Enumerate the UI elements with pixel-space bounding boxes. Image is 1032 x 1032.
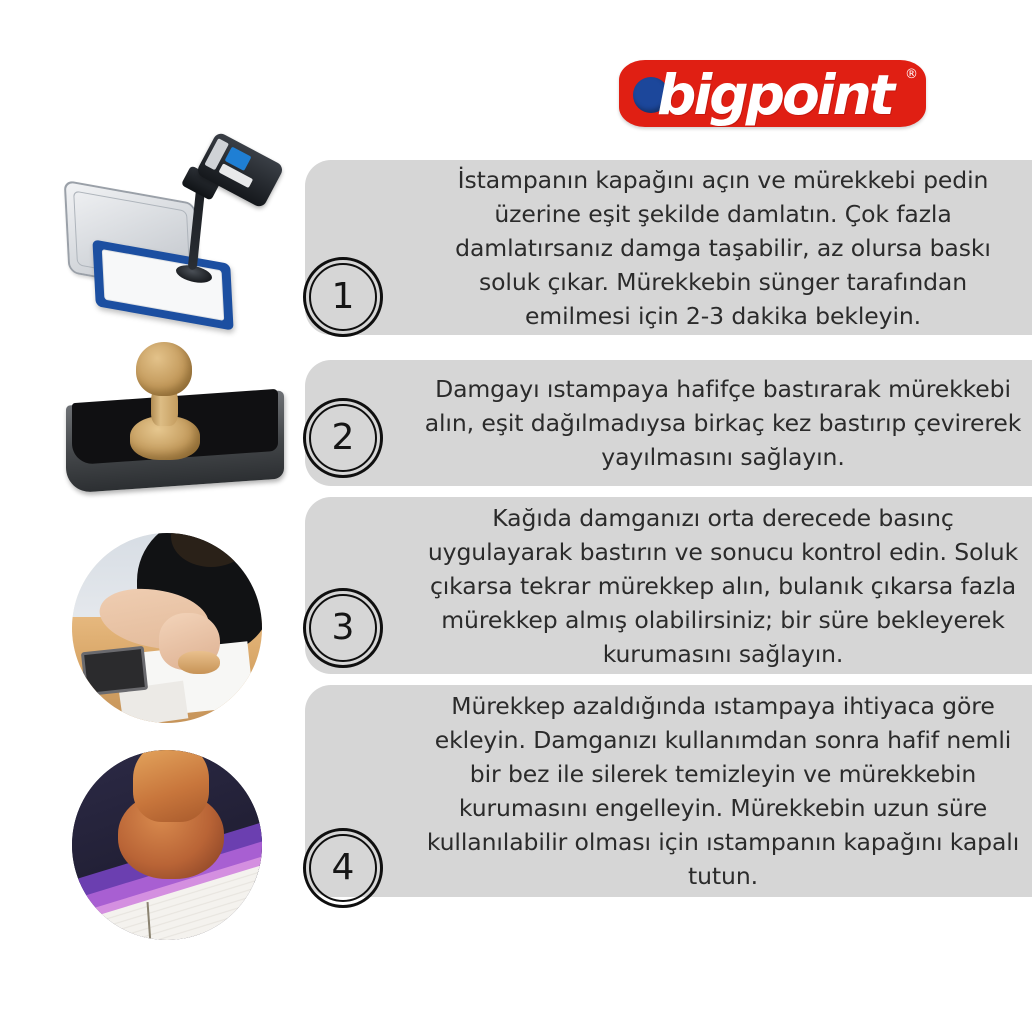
step-image-4-stamp-on-purple-pad	[72, 750, 262, 940]
stamp-handle	[133, 750, 209, 822]
step-text-3: Kağıda damganızı orta derecede basınç uy…	[424, 501, 1032, 671]
bigpoint-logo: bigpoint ®	[619, 60, 926, 127]
step-text-2: Damgayı ıstampaya hafifçe bastırarak mür…	[424, 372, 1032, 474]
stamp-in-hand	[178, 651, 220, 674]
step-panel-3: Kağıda damganızı orta derecede basınç uy…	[305, 497, 1032, 674]
step-number-2: 2	[303, 398, 383, 478]
step-image-2-wooden-stamp-on-pad	[58, 340, 288, 505]
step-badge-3: 3	[303, 588, 383, 668]
logo-wordmark: bigpoint	[657, 62, 892, 129]
step-badge-1: 1	[303, 257, 383, 337]
step-number-3: 3	[303, 588, 383, 668]
step-image-1-ink-pad-and-bottle	[52, 150, 308, 345]
step-badge-4: 4	[303, 828, 383, 908]
step-image-3-hand-stamping-paper	[72, 533, 262, 723]
step-panel-1: İstampanın kapağını açın ve mürekkebi pe…	[305, 160, 1032, 335]
step-text-1: İstampanın kapağını açın ve mürekkebi pe…	[424, 163, 1032, 333]
ink-pad-sponge	[102, 249, 224, 321]
stamp-wooden-knob	[136, 342, 192, 396]
registered-trademark-icon: ®	[905, 68, 918, 81]
step-panel-4: Mürekkep azaldığında ıstampaya ihtiyaca …	[305, 685, 1032, 897]
infographic-page: bigpoint ® İstampanın kapağını açın ve m…	[0, 0, 1032, 1032]
step-text-4: Mürekkep azaldığında ıstampaya ihtiyaca …	[424, 689, 1032, 893]
step-badge-2: 2	[303, 398, 383, 478]
ink-pad-base	[92, 239, 233, 330]
step-number-4: 4	[303, 828, 383, 908]
step-panel-2: Damgayı ıstampaya hafifçe bastırarak mür…	[305, 360, 1032, 486]
black-ink-pad	[81, 645, 148, 695]
step-number-1: 1	[303, 257, 383, 337]
